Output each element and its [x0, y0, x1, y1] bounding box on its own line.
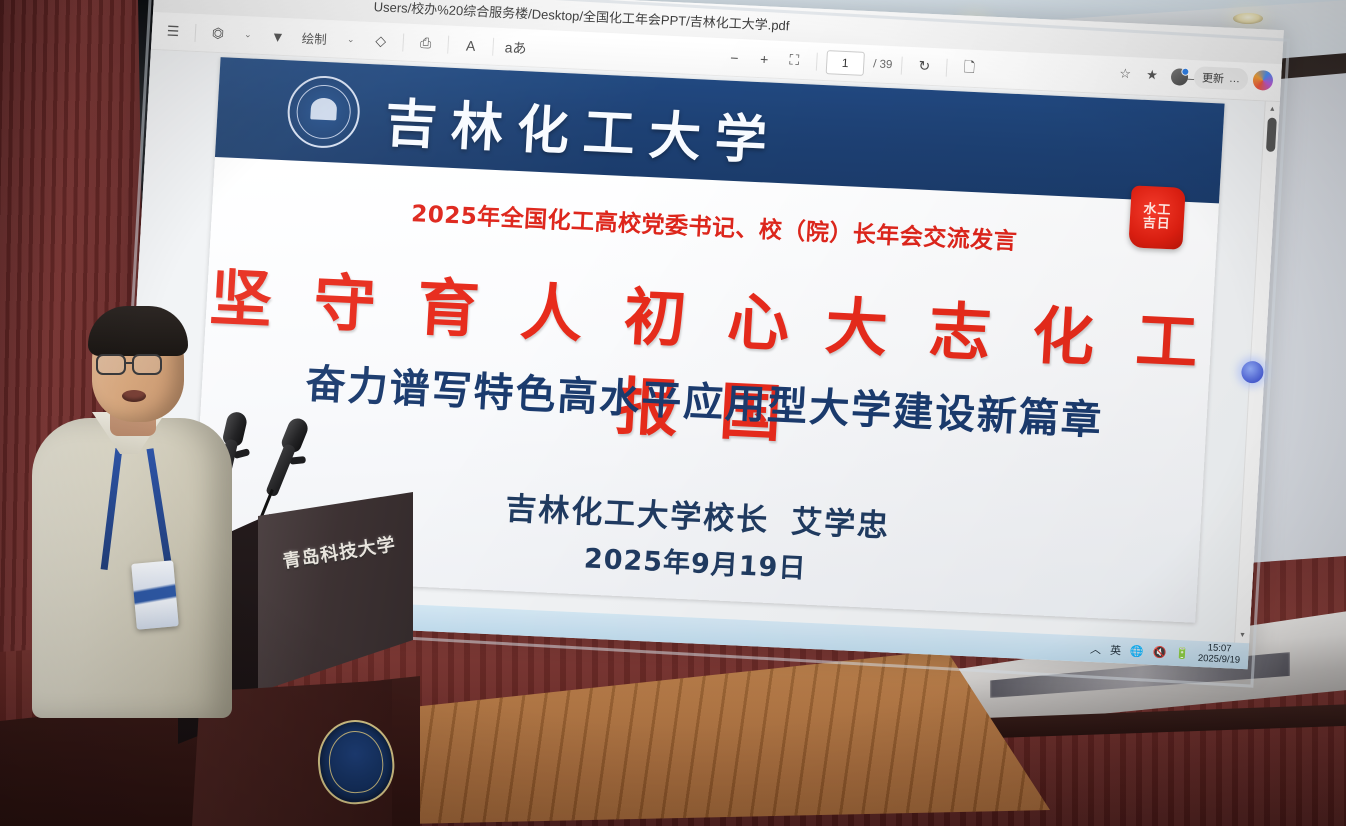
- ceiling-spotlight: [1233, 13, 1263, 24]
- highlight-chevron-down-icon[interactable]: ⌄: [234, 21, 261, 48]
- tray-chevron-up-icon[interactable]: ︿: [1090, 641, 1102, 657]
- two-page-layout-icon[interactable]: 🗋: [956, 55, 983, 82]
- update-label: 更新: [1202, 70, 1225, 87]
- toolbar-divider: [901, 56, 903, 74]
- more-options-icon[interactable]: …: [1229, 73, 1241, 85]
- page-total-label: / 39: [873, 58, 893, 71]
- clock-date: 2025/9/19: [1198, 653, 1241, 666]
- podium-front-panel: [258, 492, 413, 692]
- toolbar-divider: [402, 33, 404, 51]
- headline-left: 坚 守 育 人 初 心: [208, 261, 801, 361]
- draw-label[interactable]: 绘制: [294, 24, 334, 52]
- eyeglasses-bridge: [126, 362, 134, 364]
- volume-icon[interactable]: 🔇: [1152, 645, 1166, 659]
- conference-badge: [131, 560, 179, 629]
- zoom-out-button[interactable]: −: [721, 44, 748, 71]
- taskbar-clock[interactable]: 15:07 2025/9/19: [1197, 643, 1240, 666]
- presenter-title: 吉林化工大学校长: [504, 491, 770, 539]
- rotate-icon[interactable]: ↻: [911, 53, 938, 80]
- collections-icon[interactable]: ★: [1139, 64, 1164, 87]
- draw-chevron-down-icon[interactable]: ⌄: [337, 26, 364, 53]
- update-button[interactable]: 更新 …: [1193, 66, 1248, 90]
- favorite-star-icon[interactable]: ☆: [1113, 62, 1138, 85]
- scrollbar-thumb[interactable]: [1266, 118, 1277, 152]
- avatar[interactable]: [1166, 65, 1191, 88]
- page-number-input[interactable]: 1: [826, 50, 865, 76]
- toolbar-divider: [816, 52, 818, 70]
- toolbar-divider: [946, 58, 948, 76]
- speaker-hair: [88, 306, 188, 356]
- font-size-icon[interactable]: A: [457, 32, 484, 59]
- battery-icon[interactable]: 🔋: [1175, 646, 1189, 660]
- ime-indicator[interactable]: 英: [1110, 642, 1122, 658]
- copilot-icon[interactable]: [1250, 69, 1275, 92]
- text-box-icon[interactable]: ⎙: [412, 30, 439, 57]
- university-name: 吉林化工大学: [383, 81, 783, 174]
- speaker-mouth: [122, 390, 146, 402]
- toolbar-divider: [447, 35, 449, 53]
- toolbar-spacer: [533, 48, 718, 57]
- eraser-icon[interactable]: ◇: [367, 27, 394, 54]
- read-aloud-icon[interactable]: aあ: [502, 34, 529, 61]
- speaker-person: [30, 300, 260, 826]
- scroll-up-arrow-icon[interactable]: ▲: [1265, 101, 1280, 117]
- network-icon[interactable]: 🌐: [1130, 644, 1144, 658]
- pen-icon[interactable]: ▼: [264, 23, 291, 50]
- eyeglasses-icon: [96, 354, 126, 375]
- highlighter-icon[interactable]: ⏣: [204, 20, 231, 47]
- presenter-name: 艾学忠: [790, 504, 891, 545]
- toolbar-divider: [194, 23, 196, 41]
- toolbar-divider: [492, 37, 494, 55]
- university-crest-icon: [286, 74, 362, 149]
- list-icon[interactable]: ☰: [159, 18, 186, 45]
- scroll-down-arrow-icon[interactable]: ▼: [1235, 628, 1250, 644]
- fit-page-icon[interactable]: ⛶: [781, 47, 808, 74]
- eyeglasses-icon: [132, 354, 162, 375]
- zoom-in-button[interactable]: +: [751, 45, 778, 72]
